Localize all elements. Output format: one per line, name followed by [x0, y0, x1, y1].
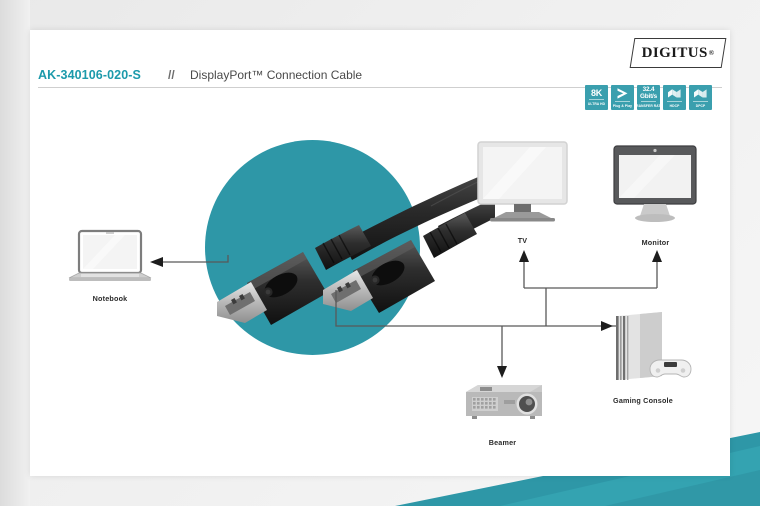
- device-console: Gaming Console: [588, 310, 698, 405]
- game-console-icon: [588, 310, 698, 388]
- device-label: TV: [470, 236, 575, 245]
- television-icon: [470, 140, 575, 228]
- device-monitor: Monitor: [608, 144, 703, 247]
- device-beamer: Beamer: [450, 378, 555, 447]
- device-tv: TV: [470, 140, 575, 245]
- device-label: Beamer: [450, 438, 555, 447]
- arrow-to-beamer: [497, 366, 507, 378]
- monitor-icon: [608, 144, 703, 230]
- device-label: Notebook: [55, 294, 165, 303]
- gamepad-icon: [650, 360, 691, 377]
- device-label: Gaming Console: [588, 396, 698, 405]
- projector-icon: [450, 378, 555, 430]
- arrow-to-tv: [519, 250, 529, 262]
- device-notebook: Notebook: [55, 228, 165, 303]
- device-label: Monitor: [608, 238, 703, 247]
- arrow-to-monitor: [652, 250, 662, 262]
- laptop-icon: [55, 228, 165, 286]
